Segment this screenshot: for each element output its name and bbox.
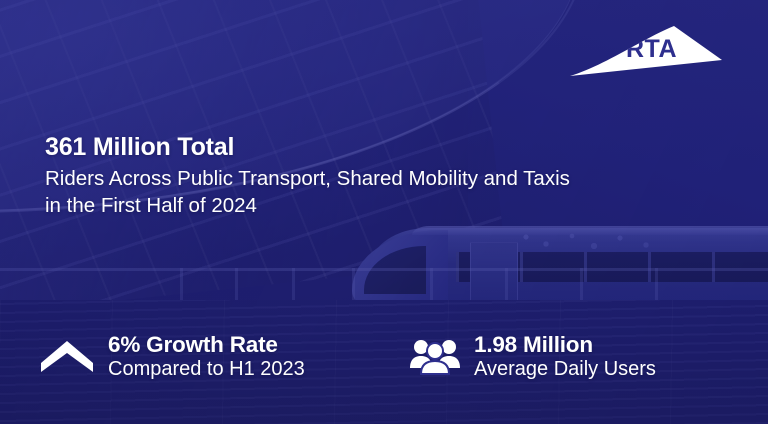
rta-logo[interactable]: RTA xyxy=(570,24,722,82)
headline-title: 361 Million Total xyxy=(45,133,685,163)
headline-subtitle-line-1: Riders Across Public Transport, Shared M… xyxy=(45,167,570,190)
stat-growth-label: Compared to H1 2023 xyxy=(108,358,305,380)
headline-block: 361 Million Total Riders Across Public T… xyxy=(45,133,685,219)
stats-row: 6% Growth Rate Compared to H1 2023 xyxy=(0,332,768,381)
stat-users-value: 1.98 Million xyxy=(474,332,656,357)
stat-growth-text: 6% Growth Rate Compared to H1 2023 xyxy=(108,332,305,381)
headline-subtitle-line-2: in the First Half of 2024 xyxy=(45,194,257,217)
headline-subtitle: Riders Across Public Transport, Shared M… xyxy=(45,165,685,219)
chevron-up-icon xyxy=(40,339,94,373)
people-group-icon xyxy=(410,337,460,375)
infographic-poster: RTA 361 Million Total Riders Across Publ… xyxy=(0,0,768,424)
stat-growth-value: 6% Growth Rate xyxy=(108,332,305,357)
stat-users-text: 1.98 Million Average Daily Users xyxy=(474,332,656,381)
rta-logo-text: RTA xyxy=(626,35,677,63)
stat-growth-rate: 6% Growth Rate Compared to H1 2023 xyxy=(40,332,400,381)
stat-daily-users: 1.98 Million Average Daily Users xyxy=(410,332,656,381)
stat-users-label: Average Daily Users xyxy=(474,358,656,380)
poster-content: RTA 361 Million Total Riders Across Publ… xyxy=(0,0,768,424)
